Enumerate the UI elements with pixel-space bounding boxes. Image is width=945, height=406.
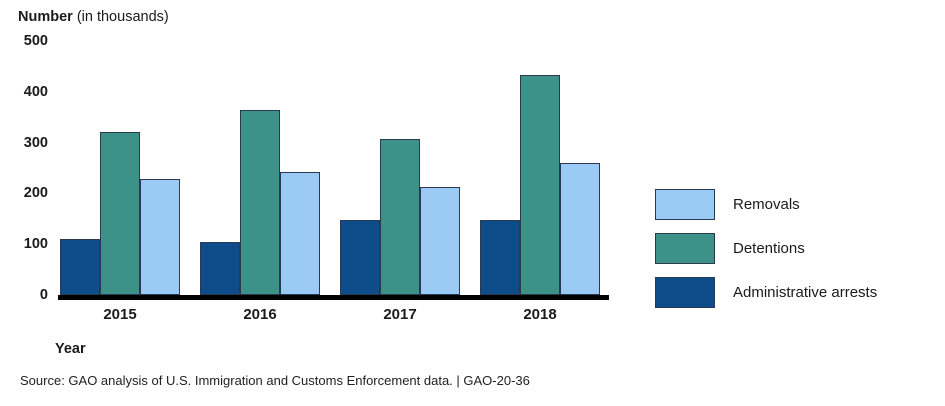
bar-group-container <box>0 0 640 300</box>
x-axis-tick-label-2017: 2017 <box>383 307 416 322</box>
x-axis-tick-label-2015: 2015 <box>103 307 136 322</box>
x-axis-tick-label-2016: 2016 <box>243 307 276 322</box>
x-axis-label: Year <box>55 342 86 357</box>
legend-swatch-detentions <box>655 233 715 264</box>
x-axis-tick-label-2018: 2018 <box>523 307 556 322</box>
legend-item-detentions[interactable]: Detentions <box>655 226 940 270</box>
bar-chart-plot-area: 5004003002001000 2015201620172018 <box>0 0 640 300</box>
legend-label-arrests: Administrative arrests <box>733 285 877 300</box>
bar-2016-detentions <box>240 110 280 295</box>
bar-2018-detentions <box>520 75 560 295</box>
bar-2018-removals <box>560 163 600 295</box>
chart-legend: RemovalsDetentionsAdministrative arrests <box>655 182 940 314</box>
bar-2015-removals <box>140 179 180 295</box>
bar-2016-arrests <box>200 242 240 295</box>
bar-2017-removals <box>420 187 460 295</box>
bar-2018-arrests <box>480 220 520 295</box>
bar-2015-arrests <box>60 239 100 295</box>
legend-item-arrests[interactable]: Administrative arrests <box>655 270 940 314</box>
legend-label-detentions: Detentions <box>733 241 805 256</box>
source-note: Source: GAO analysis of U.S. Immigration… <box>20 374 530 387</box>
legend-swatch-arrests <box>655 277 715 308</box>
bar-2015-detentions <box>100 132 140 295</box>
bar-2017-arrests <box>340 220 380 295</box>
bar-2016-removals <box>280 172 320 295</box>
legend-label-removals: Removals <box>733 197 800 212</box>
legend-swatch-removals <box>655 189 715 220</box>
bar-2017-detentions <box>380 139 420 295</box>
legend-item-removals[interactable]: Removals <box>655 182 940 226</box>
